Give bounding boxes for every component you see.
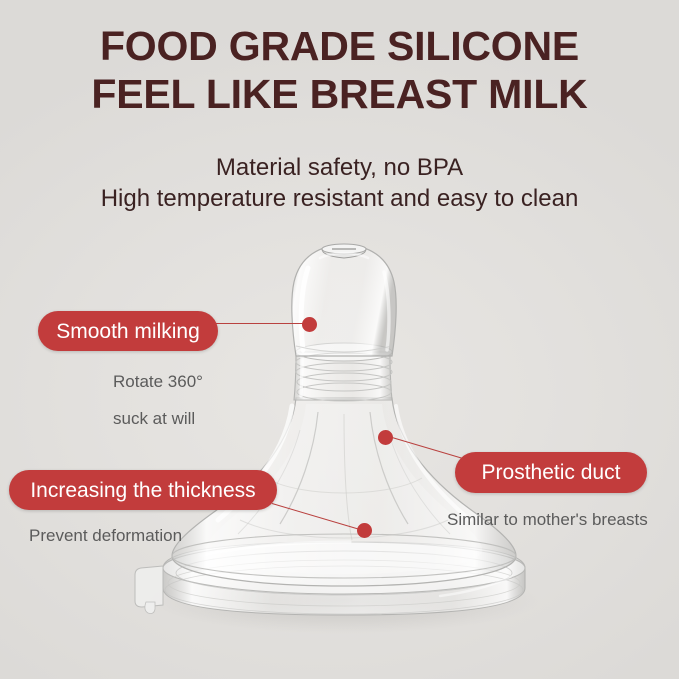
headline-line-1: FOOD GRADE SILICONE (0, 22, 679, 70)
callout-badge-prosthetic-duct[interactable]: Prosthetic duct (455, 452, 647, 493)
headline-line-2: FEEL LIKE BREAST MILK (0, 70, 679, 118)
page-title: FOOD GRADE SILICONE FEEL LIKE BREAST MIL… (0, 22, 679, 118)
callout-badge-increasing-thickness[interactable]: Increasing the thickness (9, 470, 277, 510)
page-subtitle: Material safety, no BPA High temperature… (0, 152, 679, 214)
leader-line-increasing-thickness (272, 503, 364, 532)
hotspot-dot-smooth-milking[interactable] (302, 317, 317, 332)
caption-prevent-deformation: Prevent deformation (29, 527, 182, 544)
leader-line-prosthetic-duct (392, 437, 467, 460)
caption-suck-at-will: suck at will (113, 410, 195, 427)
subtitle-line-1: Material safety, no BPA (0, 152, 679, 183)
hotspot-dot-increasing-thickness[interactable] (357, 523, 372, 538)
leader-line-smooth-milking (214, 323, 304, 324)
subtitle-line-2: High temperature resistant and easy to c… (0, 183, 679, 214)
callout-badge-smooth-milking[interactable]: Smooth milking (38, 311, 218, 351)
hotspot-dot-prosthetic-duct[interactable] (378, 430, 393, 445)
caption-rotate-360: Rotate 360° (113, 373, 203, 390)
product-infographic-poster: FOOD GRADE SILICONE FEEL LIKE BREAST MIL… (0, 0, 679, 679)
caption-similar-to-mothers-breasts: Similar to mother's breasts (447, 511, 648, 528)
